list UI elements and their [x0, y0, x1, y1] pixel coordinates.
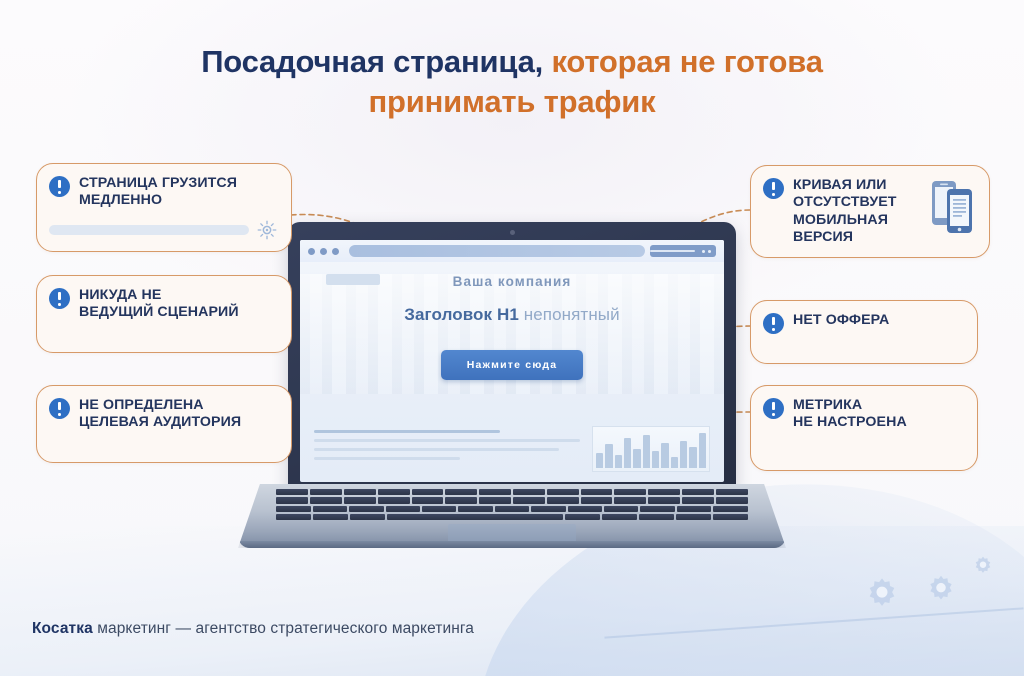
warning-exclamation-icon — [763, 313, 784, 334]
gear-icon — [860, 574, 904, 618]
callout-label: Метрика не настроена — [793, 397, 907, 432]
callout-header: Не определена целевая аудитория — [49, 397, 277, 432]
webcam-icon — [510, 230, 515, 235]
callout-no-mobile-version[interactable]: Кривая или отсутствует мобильная версия — [750, 165, 990, 258]
keyboard-row — [276, 506, 747, 512]
page-heading: Заголовок H1 непонятный — [316, 305, 708, 325]
toolbar-line — [650, 250, 695, 252]
title-line-2: принимать трафик — [0, 82, 1024, 122]
menu-dot-icon — [702, 250, 705, 253]
title-line-1: Посадочная страница, которая не готова — [0, 42, 1024, 82]
loading-spinner-icon — [257, 220, 277, 240]
footer-brand-line: Косатка маркетинг — агентство стратегиче… — [32, 620, 474, 638]
callout-no-target-audience[interactable]: Не определена целевая аудитория — [36, 385, 292, 463]
keyboard-row — [276, 497, 747, 503]
gear-icon — [922, 572, 960, 610]
callout-no-metrics[interactable]: Метрика не настроена — [750, 385, 978, 471]
heading-strong: Заголовок H1 — [404, 305, 519, 324]
warning-exclamation-icon — [49, 288, 70, 309]
callout-label: Нет оффера — [793, 312, 889, 329]
keyboard — [276, 489, 747, 520]
callout-header: Кривая или отсутствует мобильная версия — [763, 177, 975, 246]
callout-label: Не определена целевая аудитория — [79, 397, 241, 432]
callout-no-scenario[interactable]: Никуда не ведущий сценарий — [36, 275, 292, 353]
warning-exclamation-icon — [763, 178, 784, 199]
page-title: Посадочная страница, которая не готова п… — [0, 42, 1024, 121]
text-line — [314, 448, 559, 451]
site-logo-placeholder — [326, 274, 380, 285]
callout-header: Никуда не ведущий сценарий — [49, 287, 277, 322]
browser-chrome — [300, 240, 724, 262]
warning-exclamation-icon — [763, 398, 784, 419]
heading-weak: непонятный — [524, 305, 620, 324]
mobile-phones-icon — [923, 177, 975, 240]
laptop-lid: Ваша компания Заголовок H1 непонятный На… — [288, 222, 736, 492]
keyboard-row — [276, 514, 747, 520]
placeholder-text-lines — [314, 426, 580, 466]
window-dot-close-icon[interactable] — [308, 248, 315, 255]
keyboard-row — [276, 489, 747, 495]
laptop-illustration: Ваша компания Заголовок H1 непонятный На… — [238, 222, 786, 582]
callout-label: Никуда не ведущий сценарий — [79, 287, 239, 322]
loading-progress — [49, 220, 277, 240]
warning-exclamation-icon — [49, 176, 70, 197]
city-chart-thumbnail — [592, 426, 710, 472]
callout-header: Нет оффера — [763, 312, 963, 334]
title-part-accent: которая не готова — [551, 44, 822, 79]
title-part-dark: Посадочная страница, — [201, 44, 543, 79]
window-dot-maximize-icon[interactable] — [332, 248, 339, 255]
callout-label: Кривая или отсутствует мобильная версия — [793, 177, 897, 246]
brand-name: Косатка — [32, 620, 93, 637]
callout-slow-loading[interactable]: Страница грузится медленно — [36, 163, 292, 252]
address-bar[interactable] — [349, 245, 645, 257]
browser-right-control[interactable] — [650, 245, 716, 257]
brand-tagline: маркетинг — агентство стратегического ма… — [93, 620, 474, 637]
text-line — [314, 457, 460, 460]
website-page: Ваша компания Заголовок H1 непонятный На… — [300, 262, 724, 380]
progress-track — [49, 225, 249, 235]
callout-header: Страница грузится медленно — [49, 175, 277, 210]
base-lip — [238, 541, 786, 548]
warning-exclamation-icon — [49, 398, 70, 419]
menu-dot-icon — [708, 250, 711, 253]
callout-no-offer[interactable]: Нет оффера — [750, 300, 978, 364]
text-line — [314, 439, 580, 442]
cta-button[interactable]: Нажмите сюда — [441, 350, 584, 380]
callout-header: Метрика не настроена — [763, 397, 963, 432]
window-dot-minimize-icon[interactable] — [320, 248, 327, 255]
laptop-base — [238, 484, 786, 548]
callout-label: Страница грузится медленно — [79, 175, 237, 210]
laptop-screen: Ваша компания Заголовок H1 непонятный На… — [300, 240, 724, 482]
infographic-canvas: Посадочная страница, которая не готова п… — [0, 0, 1024, 676]
gear-icon — [970, 554, 996, 580]
page-lower-content — [314, 426, 710, 472]
text-line — [314, 430, 500, 433]
